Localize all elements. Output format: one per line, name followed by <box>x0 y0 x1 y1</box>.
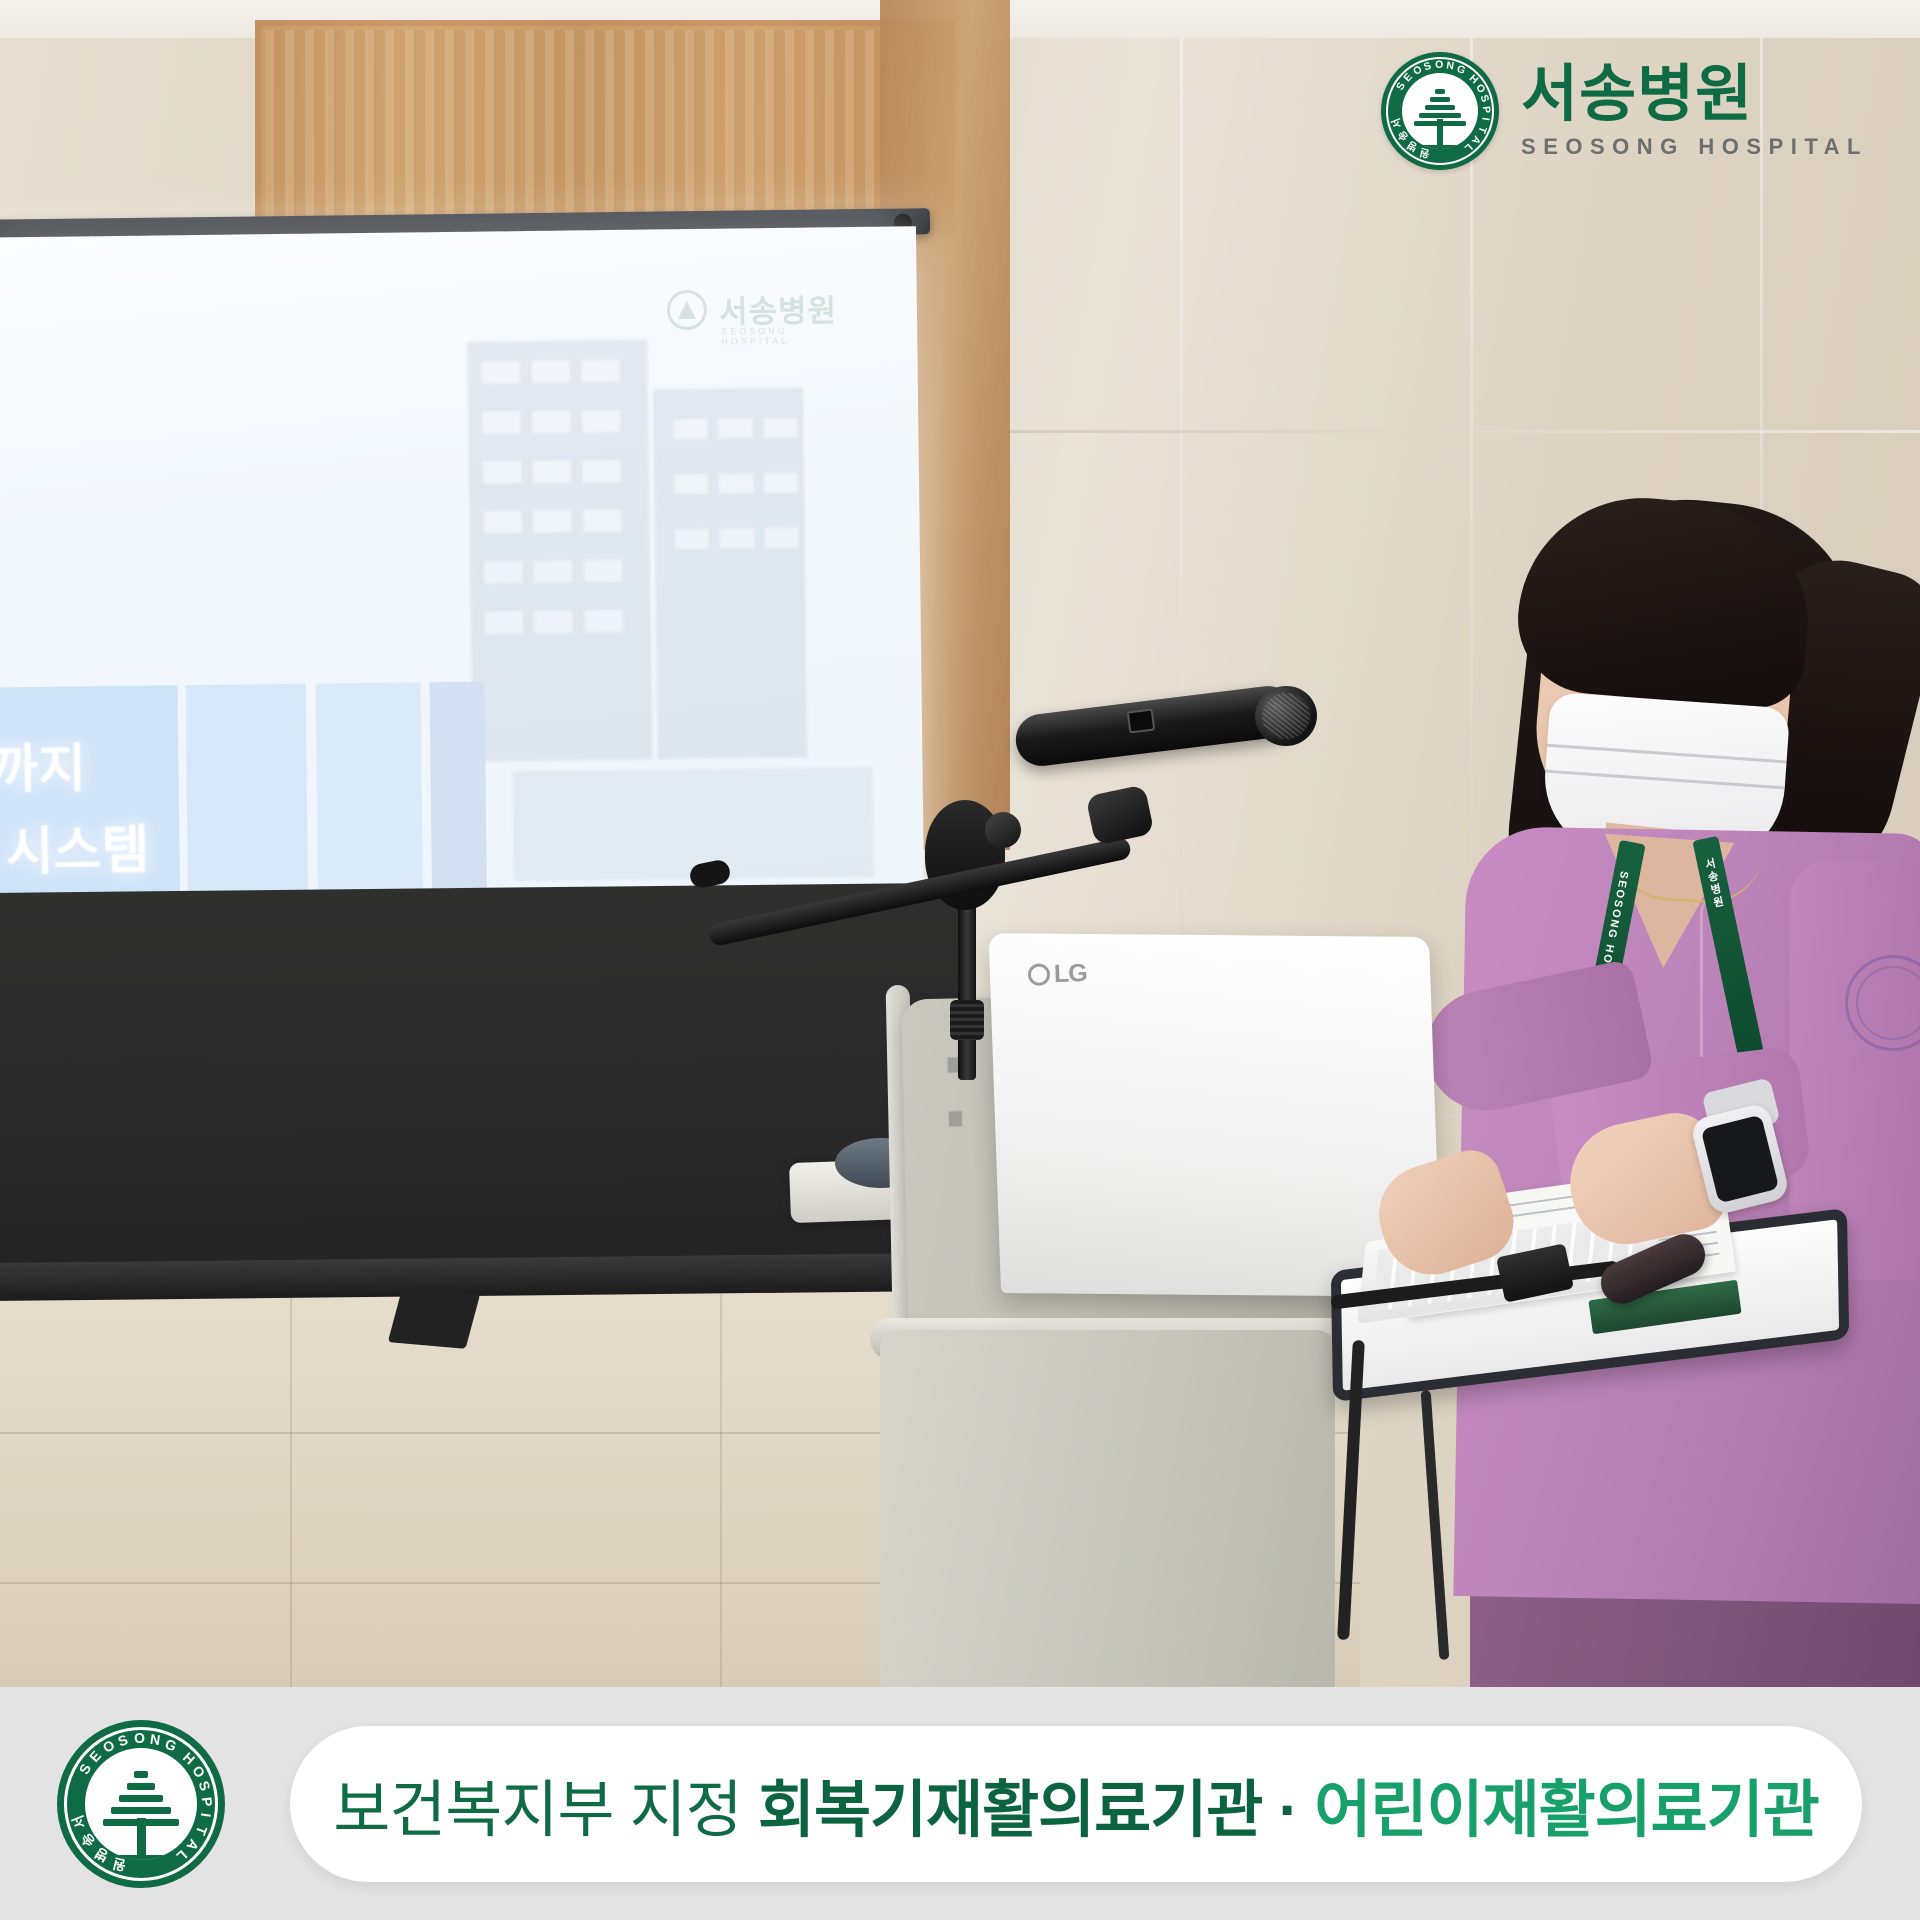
slide-headline-line2: 전 시스템 <box>0 808 150 886</box>
slide-headline-line1: 진까지 <box>0 726 86 803</box>
slide-band <box>429 682 487 898</box>
banner-hospital-seal-icon: S E O S O N G H O S P I T A L 원 병 송 서 <box>57 1720 225 1888</box>
mic-clamp-knob <box>985 812 1021 848</box>
board-foot <box>388 1287 480 1349</box>
brand-name-kr: 서송병원 <box>1521 64 1868 126</box>
brand-name-en: SEOSONG HOSPITAL <box>1521 136 1868 158</box>
brand-wordmark: 서송병원 SEOSONG HOSPITAL <box>1521 64 1868 158</box>
banner-pill: 보건복지부 지정 회복기재활의료기관 · 어린이재활의료기관 <box>290 1726 1862 1882</box>
banner-caption-bold-dark: 회복기재활의료기관 · <box>758 1776 1314 1845</box>
promotional-card: 진까지 전 시스템 서송병원 SEOSONG HOSPITAL <box>0 0 1920 1920</box>
slide-watermark-en: SEOSONG HOSPITAL <box>721 325 837 346</box>
lg-brand-text: LG <box>1053 959 1087 988</box>
microphone-switch <box>1127 708 1155 733</box>
floor-tile-line <box>720 1282 722 1687</box>
banner-caption: 보건복지부 지정 회복기재활의료기관 · 어린이재활의료기관 <box>333 1759 1819 1849</box>
podium-body <box>880 1330 1335 1687</box>
slide-band <box>185 684 308 898</box>
floor-tile-line <box>290 1282 292 1687</box>
slide-band <box>315 682 423 897</box>
wall-seam-horizontal <box>900 430 1920 433</box>
wood-wall-panel <box>255 20 955 235</box>
mic-stand-pole <box>958 900 976 1080</box>
tree-icon <box>667 289 707 329</box>
bottom-banner: S E O S O N G H O S P I T A L 원 병 송 서 <box>0 1687 1920 1920</box>
banner-caption-bold-light: 어린이재활의료기관 <box>1314 1776 1818 1845</box>
seal-ring-text: S E O S O N G H O S P I T A L 원 병 송 서 <box>57 1720 225 1888</box>
dark-board <box>0 883 972 1284</box>
lg-brand-logo: LG <box>1028 959 1088 990</box>
seal-ring-text: S E O S O N G H O S P I T A L 원 병 <box>1381 52 1499 170</box>
projection-screen: 진까지 전 시스템 서송병원 SEOSONG HOSPITAL <box>0 226 924 898</box>
banner-caption-prefix: 보건복지부 지정 <box>333 1776 758 1845</box>
header-brand-logo: S E O S O N G H O S P I T A L 원 병 <box>1381 52 1868 170</box>
slide-building-photo <box>447 296 914 897</box>
photo-region: 진까지 전 시스템 서송병원 SEOSONG HOSPITAL <box>0 0 1920 1687</box>
slide-watermark-logo: 서송병원 SEOSONG HOSPITAL <box>667 285 838 332</box>
mic-stand-collar <box>950 1000 984 1040</box>
lg-circle-icon <box>1028 963 1051 986</box>
hospital-seal-icon: S E O S O N G H O S P I T A L 원 병 <box>1381 52 1499 170</box>
